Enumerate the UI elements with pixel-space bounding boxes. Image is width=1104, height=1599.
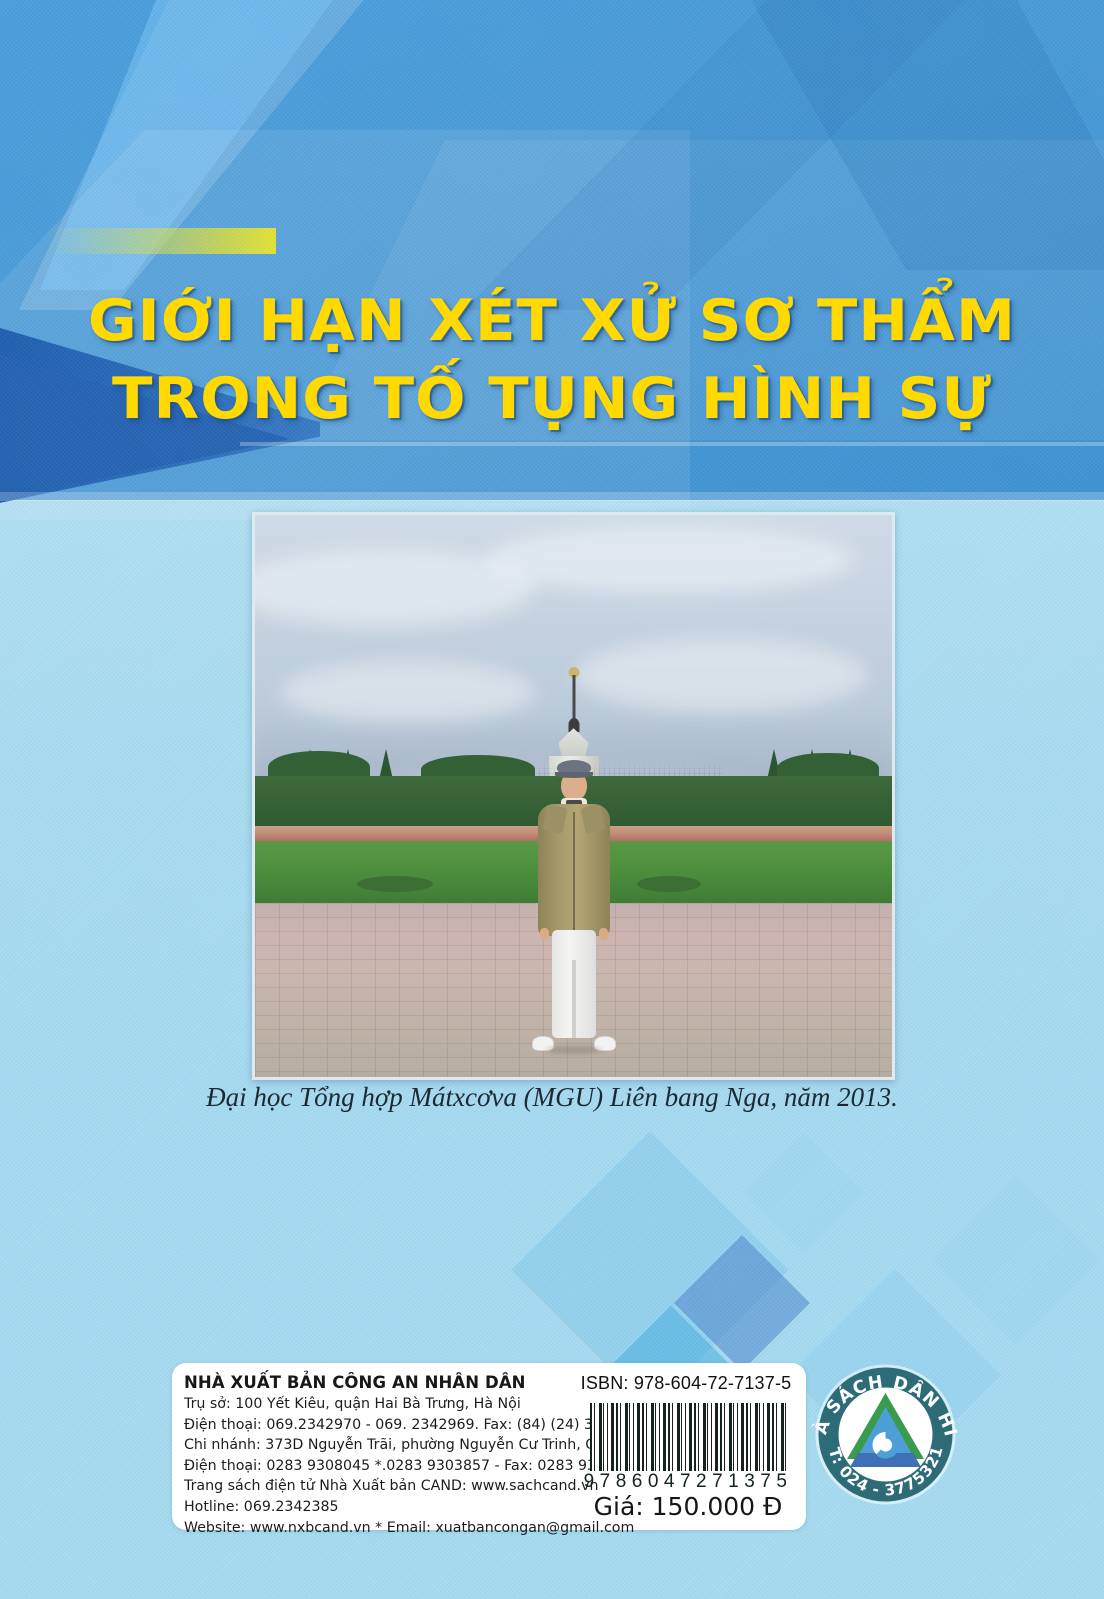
photo-caption: Đại học Tổng hợp Mátxcơva (MGU) Liên ban… <box>0 1082 1104 1113</box>
book-back-cover: GIỚI HẠN XÉT XỬ SƠ THẨM TRONG TỐ TỤNG HÌ… <box>0 0 1104 1599</box>
photo-lawn-bush <box>357 876 433 892</box>
photo-lawn-bush <box>637 876 701 892</box>
isbn-barcode <box>590 1403 786 1471</box>
person-jacket-seam <box>573 812 575 932</box>
photo-person <box>531 760 617 1060</box>
title-line-1: GIỚI HẠN XÉT XỬ SƠ THẨM <box>0 282 1104 360</box>
decor-hairline-lower <box>0 492 1104 501</box>
isbn-label: ISBN: 978-604-72-7137-5 <box>572 1373 800 1394</box>
publisher-name: NHÀ XUẤT BẢN CÔNG AN NHÂN DÂN <box>184 1372 602 1394</box>
publisher-line: Điện thoại: 0283 9308045 *.0283 9303857 … <box>184 1456 602 1477</box>
person-hand <box>599 928 608 940</box>
price-label: Giá: 150.000 Đ <box>567 1492 809 1521</box>
decor-hairline-upper <box>240 442 1104 446</box>
bookstore-logo: NHÀ SÁCH DÂN HIỀN ĐT: 024 - 37753218 <box>800 1349 971 1520</box>
footer-info-card: NHÀ XUẤT BẢN CÔNG AN NHÂN DÂN Trụ sở: 10… <box>172 1363 806 1530</box>
publisher-block: NHÀ XUẤT BẢN CÔNG AN NHÂN DÂN Trụ sở: 10… <box>184 1372 602 1538</box>
publisher-line: Chi nhánh: 373D Nguyễn Trãi, phường Nguy… <box>184 1435 602 1456</box>
person-trouser-split <box>572 960 576 1038</box>
publisher-line: Website: www.nxbcand.vn * Email: xuatban… <box>184 1518 602 1539</box>
book-title: GIỚI HẠN XÉT XỬ SƠ THẨM TRONG TỐ TỤNG HÌ… <box>0 282 1104 438</box>
photo-cloud <box>484 526 853 593</box>
publisher-line: Trang sách điện tử Nhà Xuất bản CAND: ww… <box>184 1476 602 1497</box>
publisher-line: Điện thoại: 069.2342970 - 069. 2342969. … <box>184 1415 602 1436</box>
publisher-line: Hotline: 069.2342385 <box>184 1497 602 1518</box>
decor-yellow-bar <box>46 228 276 254</box>
person-hand <box>540 928 549 940</box>
person-cap-brim <box>555 772 593 778</box>
person-shadow <box>546 1046 602 1054</box>
isbn-barcode-digits: 9786047271375 <box>572 1471 804 1493</box>
cover-photograph <box>252 512 895 1080</box>
bookstore-logo-svg: NHÀ SÁCH DÂN HIỀN ĐT: 024 - 37753218 <box>800 1349 971 1520</box>
title-line-2: TRONG TỐ TỤNG HÌNH SỰ <box>0 360 1104 438</box>
publisher-line: Trụ sở: 100 Yết Kiêu, quận Hai Bà Trưng,… <box>184 1394 602 1415</box>
